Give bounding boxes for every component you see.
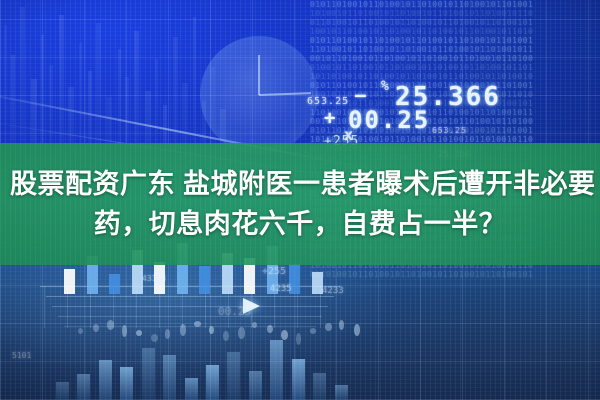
minus-symbol-icon: – bbox=[355, 85, 366, 106]
banner-image: 0101101001011010010110100101101001011010… bbox=[0, 0, 600, 400]
floor-grid-line bbox=[58, 316, 322, 317]
headline-line-1: 股票配资广东 盐城附医一患者曝术后遭开非必要 bbox=[10, 165, 596, 203]
lower-bar bbox=[270, 340, 283, 400]
candlestick-marker bbox=[339, 320, 344, 330]
number-faint-6: 43123 bbox=[142, 274, 166, 283]
number-faint-5: 4233 bbox=[322, 286, 344, 296]
plus-symbol-icon: + bbox=[324, 107, 335, 129]
binary-row: 0110100101101001011010010110100101101001… bbox=[310, 270, 600, 279]
lower-bar bbox=[163, 355, 176, 400]
lower-bar bbox=[227, 352, 240, 400]
number-faint-2: 00.25 bbox=[218, 305, 251, 318]
lower-bar bbox=[99, 360, 112, 400]
lower-bar bbox=[185, 378, 198, 400]
candlestick-marker bbox=[107, 320, 114, 330]
lower-bar bbox=[142, 348, 155, 400]
number-secondary: 00.25 bbox=[348, 106, 430, 134]
floor-grid-line bbox=[52, 306, 328, 307]
headline-line-2: 药，切息肉花六千，自费占一半？ bbox=[94, 205, 507, 243]
candlestick-marker bbox=[194, 321, 201, 327]
headline-text: 股票配资广东 盐城附医一患者曝术后遭开非必要 药，切息肉花六千，自费占一半？ bbox=[0, 143, 600, 265]
lower-bar bbox=[77, 374, 90, 400]
number-faint-7: 5101 bbox=[12, 351, 31, 360]
bar-chart-bar bbox=[199, 266, 210, 294]
lower-bar bbox=[249, 371, 262, 400]
candlestick-marker bbox=[252, 322, 257, 328]
floor-grid-column bbox=[44, 286, 45, 328]
lower-bar bbox=[292, 359, 305, 400]
number-faint-3: +255 bbox=[262, 266, 286, 277]
lower-bar bbox=[120, 367, 133, 400]
bar-chart-bar bbox=[64, 269, 75, 294]
number-reference-2: 653.25 bbox=[432, 126, 467, 135]
lower-bar bbox=[206, 365, 219, 400]
lower-bar-chart bbox=[56, 330, 356, 400]
percent-symbol-icon: % bbox=[381, 79, 389, 94]
lower-bar bbox=[313, 373, 326, 400]
lower-bar bbox=[56, 382, 69, 400]
bar-chart-bar bbox=[109, 274, 120, 294]
lower-bar bbox=[335, 385, 348, 400]
number-reference-1: 653.25 bbox=[307, 96, 349, 107]
number-faint-4: 4235 bbox=[270, 284, 292, 294]
